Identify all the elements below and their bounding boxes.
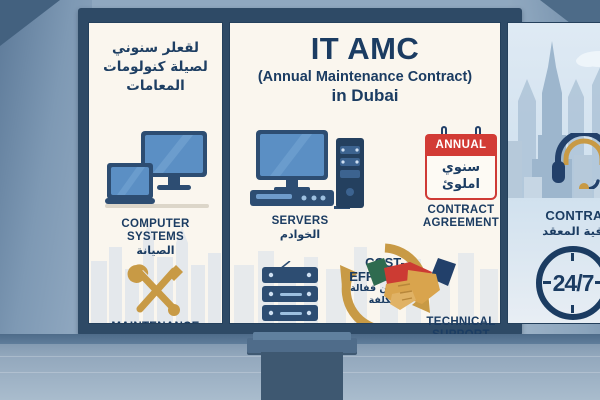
contract-agreement-line2: AGREEMENT <box>414 217 508 230</box>
handshake-icon <box>366 256 456 318</box>
computer-systems-line1: COMPUTER <box>89 218 222 231</box>
wrench-screwdriver-icon <box>124 261 188 319</box>
computer-systems-arabic: الصيانة <box>89 245 222 257</box>
title-subtitle: (Annual Maintenance Contract) <box>230 68 500 87</box>
it-amc-infographic-poster: لقعلر سنوني لصيلة كنولومات المعامات COMP… <box>0 0 600 400</box>
computer-systems-line2: SYSTEMS <box>89 231 222 244</box>
annual-calendar-icon: ANNUAL سنوي املوئ <box>425 126 497 200</box>
poster-title: IT AMC (Annual Maintenance Contract) in … <box>230 33 500 106</box>
label-computer-systems: COMPUTER SYSTEMS الصيانة <box>89 218 222 257</box>
contract-agreement-line1: CONTRACT <box>414 204 508 217</box>
heading-line-2: لصيلة كنولومات <box>89 58 222 77</box>
left-panel-heading: لقعلر سنوني لصيلة كنولومات المعامات <box>89 39 222 96</box>
contract-right-arabic: انفافية المعقد <box>508 225 600 238</box>
ceiling-corner-left <box>0 0 60 46</box>
desk-top <box>247 338 357 353</box>
calendar-arabic: سنوي املوئ <box>425 160 497 194</box>
support-headset-icon <box>552 133 600 189</box>
office-desk <box>247 338 357 400</box>
label-maintenance: MAINTENANCE الصيانة <box>89 321 222 324</box>
panel-left: لقعلر سنوني لصيلة كنولومات المعامات COMP… <box>88 22 223 324</box>
server-rack-icon <box>256 261 324 324</box>
title-main: IT AMC <box>230 33 500 66</box>
heading-line-3: المعامات <box>89 77 222 96</box>
servers-line1: SERVERS <box>240 215 360 228</box>
tech-support-right-line1: TECHNICAL <box>414 316 508 329</box>
label-contract-agreement: CONTRACT AGREEMENT <box>414 204 508 230</box>
calendar-arabic-line2: املوئ <box>425 177 497 194</box>
label-servers: SERVERS الخوادم <box>240 215 360 241</box>
desktop-computer-tower-icon <box>248 128 366 212</box>
calendar-annual-badge: ANNUAL <box>425 134 497 156</box>
calendar-arabic-line1: سنوي <box>425 160 497 177</box>
label-contract-right: CONTRACT انفافية المعقد <box>508 209 600 237</box>
clock-label: 24/7 <box>536 246 600 320</box>
contract-right-line1: CONTRACT <box>508 209 600 224</box>
window-frame: لقعلر سنوني لصيلة كنولومات المعامات COMP… <box>78 8 522 336</box>
desk-body <box>261 352 343 400</box>
heading-line-1: لقعلر سنوني <box>89 39 222 58</box>
title-location: in Dubai <box>230 86 500 106</box>
maintenance-line1: MAINTENANCE <box>89 321 222 324</box>
clock-24-7-icon: 24/7 <box>536 246 600 320</box>
computer-monitor-laptop-icon <box>105 129 209 211</box>
